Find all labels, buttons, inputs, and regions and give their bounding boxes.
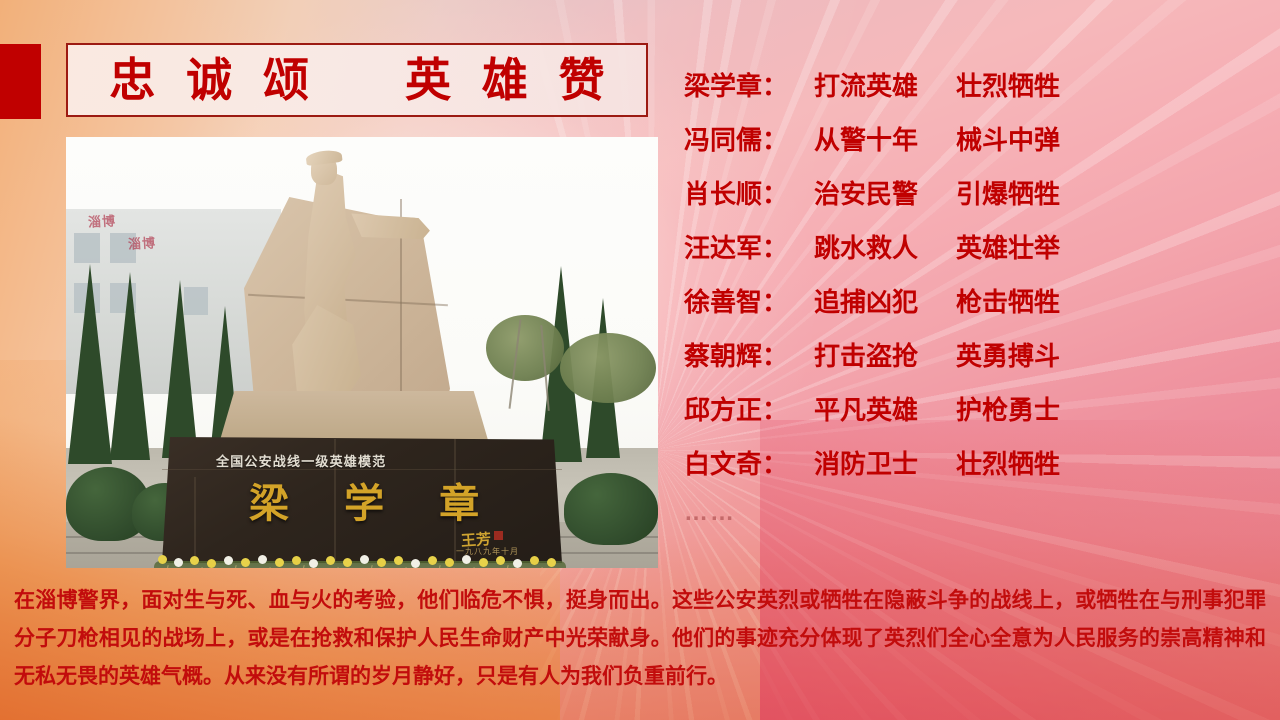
- hero-list-item: 白文奇： 消防卫士 壮烈牺牲: [684, 435, 1244, 489]
- hero-name: 徐善智：: [684, 282, 814, 319]
- hero-deed: 跳水救人: [814, 228, 956, 265]
- hero-list-item: 汪达军： 跳水救人 英雄壮举: [684, 219, 1244, 273]
- monument-hero-name: 梁 学 章: [249, 471, 501, 529]
- hero-name: 冯同儒：: [684, 120, 814, 157]
- hero-deed: 追捕凶犯: [814, 282, 956, 319]
- hero-fate: 护枪勇士: [956, 390, 1060, 427]
- page-title: 忠 诚 颂 英 雄 赞: [100, 57, 613, 103]
- hero-deed: 打流英雄: [814, 66, 956, 103]
- photo-conifer-tree: [68, 264, 112, 464]
- title-box: 忠 诚 颂 英 雄 赞: [66, 43, 648, 117]
- photo-building-sign: 淄博: [88, 210, 117, 230]
- hero-list: 梁学章： 打流英雄 壮烈牺牲 冯同儒： 从警十年 械斗中弹 肖长顺： 治安民警 …: [684, 57, 1244, 537]
- hero-fate: 枪击牺牲: [956, 282, 1060, 319]
- hero-deed: 打击盗抢: [814, 336, 956, 373]
- hero-name: 蔡朝辉：: [684, 336, 814, 373]
- hero-deed: 平凡英雄: [814, 390, 956, 427]
- hero-list-item: 梁学章： 打流英雄 壮烈牺牲: [684, 57, 1244, 111]
- photo-shrub: [560, 333, 656, 403]
- hero-fate: 英勇搏斗: [956, 336, 1060, 373]
- hero-list-item: 邱方正： 平凡英雄 护枪勇士: [684, 381, 1244, 435]
- photo-conifer-tree: [110, 272, 150, 460]
- monument-seal-stamp: [494, 531, 503, 540]
- hero-name: 白文奇：: [684, 444, 814, 481]
- monument-honor-title: 全国公安战线一级英雄模范: [216, 451, 386, 470]
- hero-list-item: 徐善智： 追捕凶犯 枪击牺牲: [684, 273, 1244, 327]
- hero-list-item: 冯同儒： 从警十年 械斗中弹: [684, 111, 1244, 165]
- hero-name: 邱方正：: [684, 390, 814, 427]
- photo-tribute-flowers: [154, 555, 566, 568]
- photo-building-window: [74, 233, 100, 263]
- photo-shrub: [486, 315, 564, 381]
- photo-building-sign: 淄博: [128, 232, 157, 252]
- hero-fate: 壮烈牺牲: [956, 66, 1060, 103]
- hero-fate: 壮烈牺牲: [956, 444, 1060, 481]
- hero-list-ellipsis: ……: [684, 489, 1244, 537]
- hero-list-item: 肖长顺： 治安民警 引爆牺牲: [684, 165, 1244, 219]
- hero-name: 肖长顺：: [684, 174, 814, 211]
- decorative-red-block: [0, 44, 41, 119]
- hero-fate: 械斗中弹: [956, 120, 1060, 157]
- hero-fate: 引爆牺牲: [956, 174, 1060, 211]
- hero-fate: 英雄壮举: [956, 228, 1060, 265]
- hero-list-item: 蔡朝辉： 打击盗抢 英勇搏斗: [684, 327, 1244, 381]
- photo-monument-seam: [194, 477, 196, 563]
- hero-deed: 治安民警: [814, 174, 956, 211]
- hero-deed: 消防卫士: [814, 444, 956, 481]
- hero-deed: 从警十年: [814, 120, 956, 157]
- hero-name: 汪达军：: [684, 228, 814, 265]
- hero-name: 梁学章：: [684, 66, 814, 103]
- photo-bush: [564, 473, 658, 545]
- body-paragraph: 在淄博警界，面对生与死、血与火的考验，他们临危不惧，挺身而出。这些公安英烈或牺牲…: [14, 582, 1266, 696]
- photo-conifer-tree: [162, 280, 198, 458]
- slide-root: 忠 诚 颂 英 雄 赞 淄博 淄博: [0, 0, 1280, 720]
- memorial-statue-photo: 淄博 淄博: [66, 137, 658, 568]
